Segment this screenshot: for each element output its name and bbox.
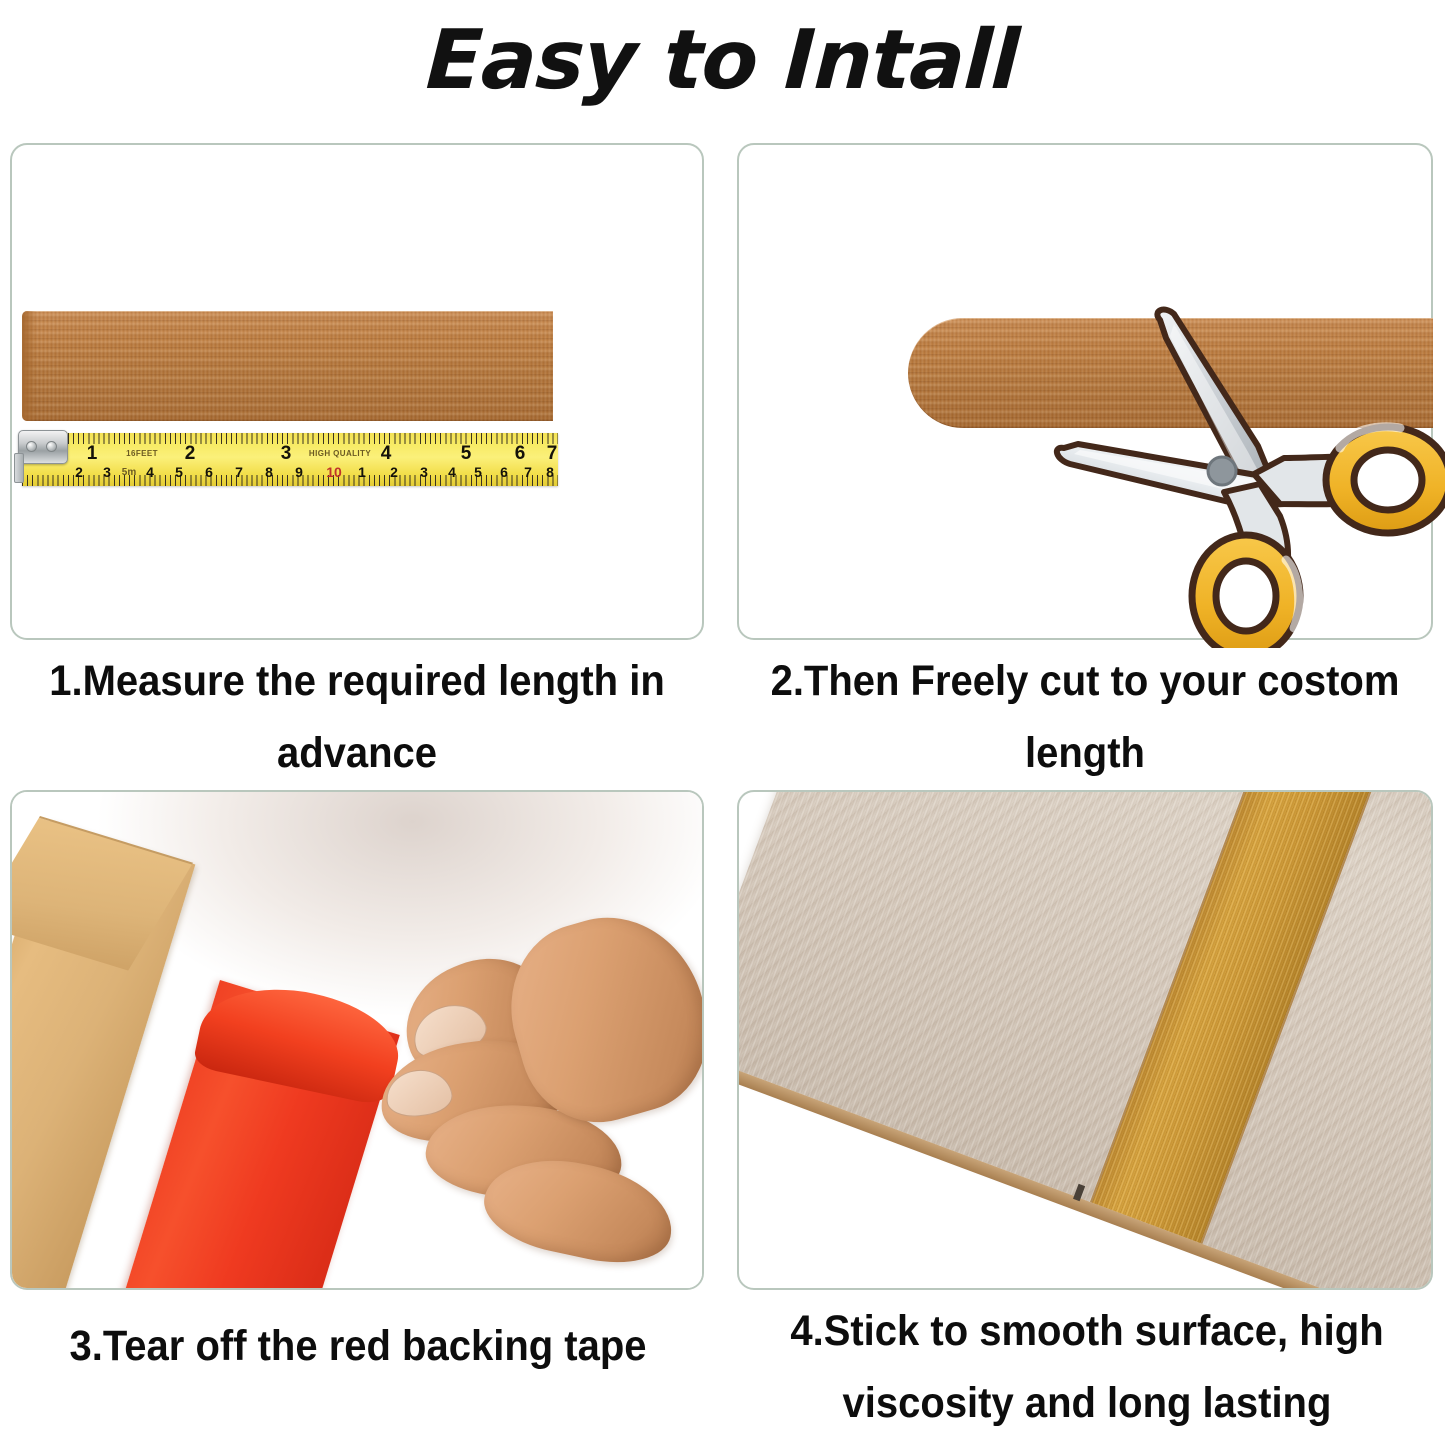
scissors-handle-lower bbox=[1192, 535, 1300, 648]
tape-metric-label: 2 bbox=[75, 462, 83, 483]
tape-metric-label: 8 bbox=[265, 462, 273, 483]
tape-metric-row: 2 3 5m 4 5 6 7 8 9 10 1 2 3 4 5 6 7 8 bbox=[22, 462, 558, 483]
tape-inch-label: 7 bbox=[547, 443, 558, 464]
tape-metric-label: 8 bbox=[546, 462, 554, 483]
tape-metric-label: 3 bbox=[103, 462, 111, 483]
tape-inch-label: 5 bbox=[461, 443, 472, 464]
tape-metric-label: 6 bbox=[500, 462, 508, 483]
tape-metric-label: 2 bbox=[390, 462, 398, 483]
tape-measure-hook bbox=[18, 430, 68, 464]
tape-metric-label: 4 bbox=[448, 462, 456, 483]
tape-metric-label: 4 bbox=[146, 462, 154, 483]
step-1-caption: 1.Measure the required length in advance bbox=[34, 645, 679, 789]
tape-measure-hook-lip bbox=[14, 453, 24, 483]
tape-metric-label: 1 bbox=[358, 462, 366, 483]
tape-inch-label: 3 bbox=[281, 443, 292, 464]
stick-step-panel bbox=[737, 790, 1433, 1290]
tape-inch-label: 1 bbox=[87, 443, 98, 464]
tape-inch-label: 6 bbox=[515, 443, 526, 464]
step-3-caption: 3.Tear off the red backing tape bbox=[31, 1310, 686, 1382]
hand-image bbox=[364, 910, 704, 1290]
tape-inch-label: 2 bbox=[185, 443, 196, 464]
tape-inch-row: 1 16FEET 2 3 HIGH QUALITY 4 5 6 7 bbox=[22, 443, 558, 464]
tape-metric-label: 9 bbox=[295, 462, 303, 483]
floor-front-edge bbox=[737, 1049, 1433, 1290]
scissors-pivot-screw bbox=[1208, 457, 1236, 485]
tape-metric-label: 6 bbox=[205, 462, 213, 483]
tape-metric-label: 7 bbox=[235, 462, 243, 483]
page-title: Easy to Intall bbox=[0, 0, 1445, 120]
tape-metric-label-red: 10 bbox=[326, 462, 342, 483]
tape-hook-rivet bbox=[46, 441, 57, 452]
tape-metric-length-label: 5m bbox=[122, 462, 136, 483]
wood-trim-strip-image bbox=[23, 311, 553, 421]
tape-inch-label: 4 bbox=[381, 443, 392, 464]
tape-quality-label: HIGH QUALITY bbox=[309, 449, 371, 458]
peel-step-panel bbox=[10, 790, 704, 1290]
tape-metric-label: 5 bbox=[474, 462, 482, 483]
tape-measure-image: 1 16FEET 2 3 HIGH QUALITY 4 5 6 7 2 3 5m… bbox=[22, 433, 558, 486]
wood-floor-image bbox=[737, 790, 1433, 1290]
applied-trim-strip bbox=[1090, 790, 1413, 1244]
tape-metric-label: 5 bbox=[175, 462, 183, 483]
scissors-icon bbox=[1048, 278, 1445, 648]
step-4-caption: 4.Stick to smooth surface, high viscosit… bbox=[762, 1295, 1413, 1439]
scissors-handle-right bbox=[1326, 427, 1445, 533]
step-2-caption: 2.Then Freely cut to your costom length bbox=[761, 645, 1408, 789]
tape-metric-label: 3 bbox=[420, 462, 428, 483]
tape-brand-label: 16FEET bbox=[126, 449, 158, 458]
tape-metric-label: 7 bbox=[524, 462, 532, 483]
measure-step-panel: 1 16FEET 2 3 HIGH QUALITY 4 5 6 7 2 3 5m… bbox=[10, 143, 704, 640]
tape-hook-rivet bbox=[26, 441, 37, 452]
